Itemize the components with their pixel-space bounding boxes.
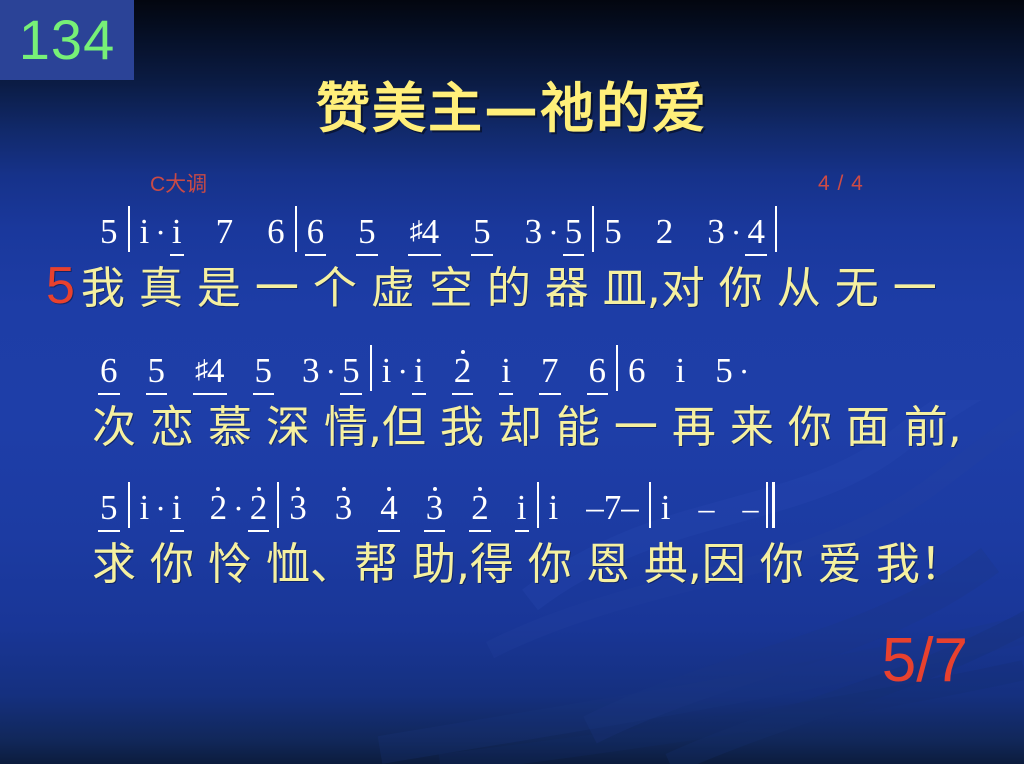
note-glyph: i xyxy=(382,351,392,391)
octave-dot xyxy=(461,350,465,354)
page-title: 赞美主—祂的爱 xyxy=(0,82,1024,136)
note-glyph: 3 xyxy=(302,351,320,391)
note-glyph: i xyxy=(517,488,527,528)
note-glyph: 4 xyxy=(380,488,398,528)
note-4-sharp: ♯4 xyxy=(195,350,225,391)
note-7-sustained: –7– xyxy=(586,488,639,528)
note-3: 3 xyxy=(302,351,320,391)
octave-dot xyxy=(296,487,300,491)
note-glyph: i xyxy=(414,351,424,391)
note-2-high: 2 xyxy=(454,351,472,391)
note-i-high: i xyxy=(140,212,150,252)
dot-prolong: · xyxy=(324,351,339,391)
octave-dot xyxy=(478,487,482,491)
note-glyph: 5 xyxy=(100,488,118,528)
lyrics-line-2-inner: 次 恋 慕 深 情,但 我 却 能 一 再 来 你 面 前, xyxy=(92,400,962,456)
note-glyph: 5 xyxy=(255,351,273,391)
note-4: 4 xyxy=(747,212,765,252)
final-barline xyxy=(766,482,775,528)
lyrics-line-3-text: 求 你 怜 恤、帮 助,得 你 恩 典,因 你 爱 我！ xyxy=(92,539,964,590)
dot-prolong: · xyxy=(737,351,752,391)
note-glyph: 6 xyxy=(589,351,607,391)
note-glyph: 3 xyxy=(707,212,725,252)
note-glyph: 5 xyxy=(100,212,118,252)
barline xyxy=(128,206,130,252)
note-glyph: 3 xyxy=(525,212,543,252)
note-glyph: 2 xyxy=(471,488,489,528)
note-i-high: i xyxy=(501,351,511,391)
note-glyph: i xyxy=(140,488,150,528)
dot-prolong: · xyxy=(395,351,410,391)
note-5: 5 xyxy=(148,351,166,391)
lyrics-line-1-inner: 5我 真 是 一 个 虚 空 的 器 皿,对 你 从 无 一 xyxy=(46,258,937,317)
note-5: 5 xyxy=(100,488,118,528)
note-2-high: 2 xyxy=(250,488,268,528)
notation-line-1-tokens: 5i·i7665♯453·5523·4 xyxy=(100,206,787,252)
note-5: 5 xyxy=(473,212,491,252)
note-glyph: 6 xyxy=(307,212,325,252)
octave-dot xyxy=(433,487,437,491)
note-glyph: 6 xyxy=(100,351,118,391)
sustain-dash: – xyxy=(742,488,758,528)
note-i-high: i xyxy=(549,488,559,528)
note-glyph: 3 xyxy=(335,488,353,528)
lyrics-line-3-inner: 求 你 怜 恤、帮 助,得 你 恩 典,因 你 爱 我！ xyxy=(92,537,964,593)
note-6: 6 xyxy=(307,212,325,252)
note-3-high: 3 xyxy=(426,488,444,528)
note-5: 5 xyxy=(100,212,118,252)
note-2: 2 xyxy=(656,212,674,252)
barline xyxy=(775,206,777,252)
note-glyph: 4 xyxy=(207,351,225,391)
note-i-high: i xyxy=(661,488,671,528)
slide-counter: 5/7 xyxy=(882,630,968,692)
dot-prolong: · xyxy=(153,488,168,528)
key-signature: C大调 xyxy=(150,168,207,198)
lyrics-line-2-text: 次 恋 慕 深 情,但 我 却 能 一 再 来 你 面 前, xyxy=(92,402,962,453)
note-i-high: i xyxy=(382,351,392,391)
barline xyxy=(128,482,130,528)
barline xyxy=(592,206,594,252)
barline xyxy=(537,482,539,528)
barline xyxy=(616,345,618,391)
note-5: 5 xyxy=(255,351,273,391)
note-glyph: 5 xyxy=(358,212,376,252)
note-glyph: i xyxy=(172,212,182,252)
note-5: 5 xyxy=(342,351,360,391)
note-glyph: i xyxy=(172,488,182,528)
note-glyph: 5 xyxy=(473,212,491,252)
notation-line-3: 5i·i2·233432ii–7–i–– xyxy=(0,482,1024,534)
note-2-high: 2 xyxy=(210,488,228,528)
presentation-slide: 134 赞美主—祂的爱 C大调 4 / 4 5i·i7665♯453·5523·… xyxy=(0,0,1024,764)
note-6: 6 xyxy=(628,351,646,391)
notation-line-1: 5i·i7665♯453·5523·4 xyxy=(0,206,1024,258)
note-5: 5 xyxy=(604,212,622,252)
note-3-high: 3 xyxy=(289,488,307,528)
note-glyph: 2 xyxy=(210,488,228,528)
note-5: 5 xyxy=(358,212,376,252)
note-glyph: 2 xyxy=(250,488,268,528)
note-glyph: 4 xyxy=(422,212,440,252)
note-glyph: 5 xyxy=(604,212,622,252)
octave-dot xyxy=(387,487,391,491)
note-glyph: 7 xyxy=(216,212,234,252)
note-glyph: 2 xyxy=(656,212,674,252)
note-i-high: i xyxy=(172,488,182,528)
notation-line-3-tokens: 5i·i2·233432ii–7–i–– xyxy=(100,482,777,528)
note-glyph: 6 xyxy=(628,351,646,391)
note-glyph: i xyxy=(140,212,150,252)
notation-line-2-tokens: 65♯453·5i·i2i766i5· xyxy=(100,345,751,391)
notation-line-2: 65♯453·5i·i2i766i5· xyxy=(0,345,1024,397)
lyrics-line-1-text: 我 真 是 一 个 虚 空 的 器 皿,对 你 从 无 一 xyxy=(81,263,937,314)
note-6: 6 xyxy=(100,351,118,391)
note-i-high: i xyxy=(517,488,527,528)
note-5: 5 xyxy=(715,351,733,391)
hymn-number: 134 xyxy=(19,12,115,68)
note-glyph: 5 xyxy=(148,351,166,391)
octave-dot xyxy=(342,487,346,491)
dot-prolong: · xyxy=(729,212,744,252)
note-glyph: 2 xyxy=(454,351,472,391)
note-3: 3 xyxy=(707,212,725,252)
note-2-high: 2 xyxy=(471,488,489,528)
note-glyph: i xyxy=(549,488,559,528)
note-6: 6 xyxy=(589,351,607,391)
note-i-high: i xyxy=(676,351,686,391)
dot-prolong: · xyxy=(153,212,168,252)
note-7: 7 xyxy=(216,212,234,252)
note-3-high: 3 xyxy=(335,488,353,528)
note-glyph: 5 xyxy=(565,212,583,252)
barline xyxy=(277,482,279,528)
barline xyxy=(370,345,372,391)
note-glyph: 4 xyxy=(747,212,765,252)
note-glyph: 3 xyxy=(289,488,307,528)
time-signature: 4 / 4 xyxy=(818,172,864,196)
note-5: 5 xyxy=(565,212,583,252)
note-glyph: 6 xyxy=(267,212,285,252)
note-3: 3 xyxy=(525,212,543,252)
octave-dot xyxy=(216,487,220,491)
verse-number: 5 xyxy=(46,257,75,315)
dot-prolong: · xyxy=(546,212,561,252)
note-glyph: 7 xyxy=(541,351,559,391)
barline xyxy=(649,482,651,528)
note-glyph: 5 xyxy=(715,351,733,391)
note-glyph: i xyxy=(501,351,511,391)
hymn-number-badge: 134 xyxy=(0,0,134,80)
octave-dot xyxy=(257,487,261,491)
dot-prolong: · xyxy=(231,488,246,528)
note-i-high: i xyxy=(414,351,424,391)
barline xyxy=(295,206,297,252)
note-glyph: 5 xyxy=(342,351,360,391)
note-i-high: i xyxy=(172,212,182,252)
note-glyph: 3 xyxy=(426,488,444,528)
sustain-dash: – xyxy=(698,488,714,528)
note-glyph: i xyxy=(661,488,671,528)
note-4-high: 4 xyxy=(380,488,398,528)
background-swirl-decoration-lower xyxy=(0,600,1024,764)
note-7: 7 xyxy=(541,351,559,391)
note-i-high: i xyxy=(140,488,150,528)
note-6: 6 xyxy=(267,212,285,252)
note-4-sharp: ♯4 xyxy=(410,211,440,252)
note-glyph: i xyxy=(676,351,686,391)
